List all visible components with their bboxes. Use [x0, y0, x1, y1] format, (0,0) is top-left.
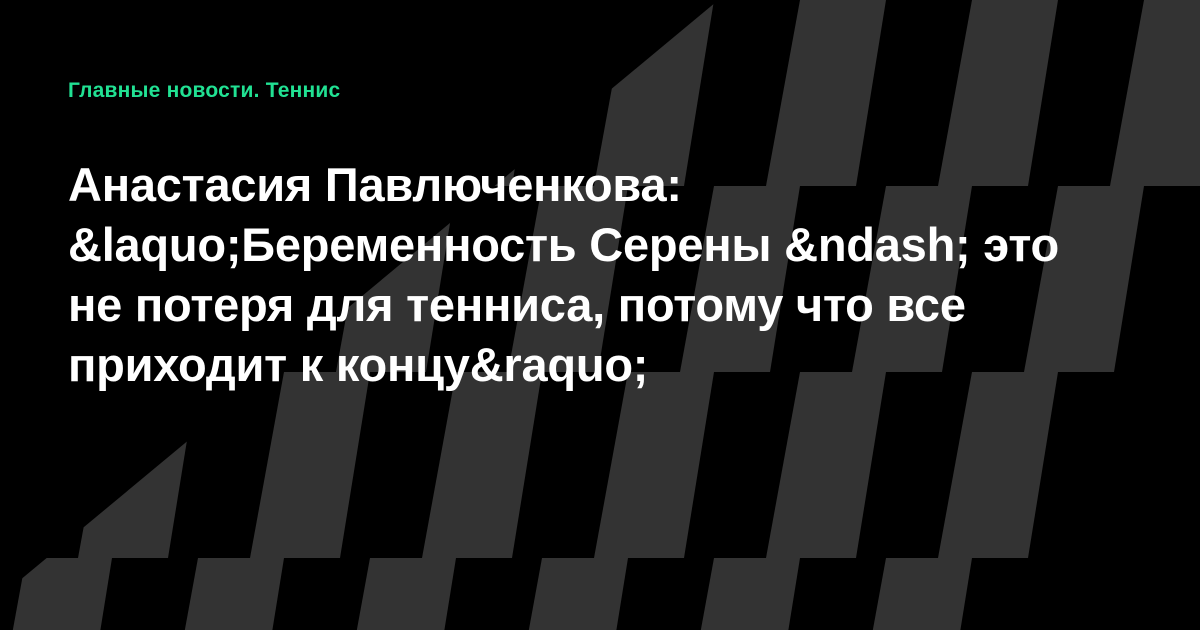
page-title: Анастасия Павлюченкова: &laquo;Беременно… — [68, 155, 1100, 395]
kicker-category-label: Главные новости. Теннис — [68, 78, 1100, 103]
card-content: Главные новости. Теннис Анастасия Павлюч… — [0, 0, 1100, 395]
share-card: Главные новости. Теннис Анастасия Павлюч… — [0, 0, 1200, 630]
